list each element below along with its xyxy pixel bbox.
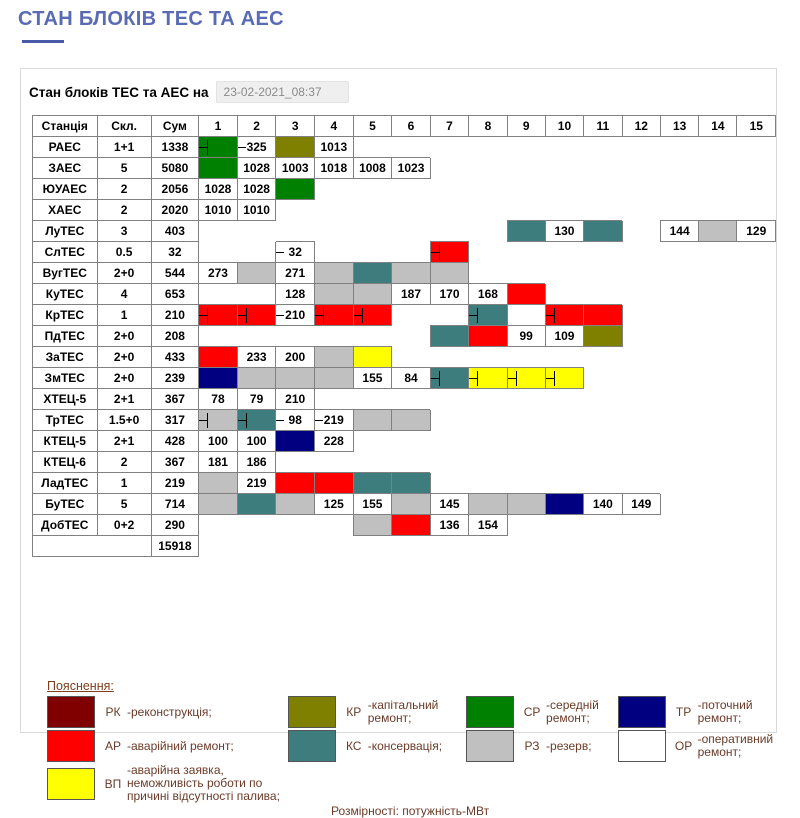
station-composition: 2+1 [97, 431, 151, 452]
unit-cell-empty [392, 179, 431, 200]
unit-cell-empty [545, 158, 583, 179]
unit-cell[interactable]: 84 [392, 368, 431, 389]
station-name: БуТЕС [33, 494, 98, 515]
column-header-unit-5: 5 [353, 116, 392, 137]
unit-cell-empty [469, 221, 507, 242]
unit-cell[interactable]: 125 [315, 494, 354, 515]
unit-cell-empty [660, 494, 698, 515]
unit-cell[interactable]: 1018 [315, 158, 354, 179]
unit-cell-empty [699, 284, 737, 305]
unit-cell[interactable]: 1010 [199, 200, 238, 221]
table-row: ДобТЕС0+2290136154 [33, 515, 776, 536]
unit-cell-empty [699, 536, 737, 557]
unit-cell-empty [699, 137, 737, 158]
unit-cell-empty [315, 242, 354, 263]
unit-cell-empty [737, 368, 776, 389]
legend-description: -реконструкція; [127, 706, 212, 719]
unit-cell[interactable] [545, 494, 583, 515]
unit-cell-empty [545, 410, 583, 431]
table-row: ЛадТЕС1219219 [33, 473, 776, 494]
unit-cell[interactable] [353, 284, 392, 305]
station-name: ЮУАЕС [33, 179, 98, 200]
unit-cell[interactable] [199, 368, 238, 389]
unit-cell-empty [699, 158, 737, 179]
unit-cell[interactable]: 32 [276, 242, 315, 263]
unit-cell-empty [469, 158, 507, 179]
legend-title: Пояснення: [47, 679, 787, 693]
table-row: ТрТЕС1.5+031798219 [33, 410, 776, 431]
unit-cell-empty [622, 347, 660, 368]
unit-cell-empty [469, 452, 507, 473]
unit-cell-empty [545, 179, 583, 200]
unit-cell[interactable]: 219 [237, 473, 276, 494]
unit-cell[interactable] [315, 347, 354, 368]
unit-cell-empty [430, 347, 468, 368]
unit-cell[interactable] [276, 179, 315, 200]
legend-description: -консервація; [368, 740, 442, 753]
unit-cell[interactable]: 187 [392, 284, 431, 305]
unit-cell-empty [469, 389, 507, 410]
unit-cell[interactable]: 1028 [199, 179, 238, 200]
unit-cell[interactable] [315, 305, 354, 326]
unit-cell-empty [584, 431, 622, 452]
column-header-unit-8: 8 [469, 116, 507, 137]
station-composition: 2+0 [97, 347, 151, 368]
unit-cell-empty [660, 305, 698, 326]
unit-cell-empty [660, 263, 698, 284]
legend-item: ВП-аварійна заявка, неможливість роботи … [47, 764, 288, 803]
unit-cell[interactable]: 78 [199, 389, 238, 410]
unit-cell-empty [699, 515, 737, 536]
table-row: ЗмТЕС2+023915584 [33, 368, 776, 389]
unit-cell-empty [660, 431, 698, 452]
station-sum: 367 [151, 452, 199, 473]
unit-cell[interactable] [199, 137, 238, 158]
legend-item: ОР-оперативний ремонт; [618, 730, 787, 762]
unit-cell-empty [430, 452, 468, 473]
legend-item: РК-реконструкція; [47, 696, 288, 728]
unit-cell[interactable]: 1028 [237, 179, 276, 200]
panel-title: Стан блоків ТЕС та АЕС на [29, 85, 209, 100]
unit-cell-empty [469, 347, 507, 368]
column-header-unit-1: 1 [199, 116, 238, 137]
unit-cell-empty [584, 389, 622, 410]
unit-cell[interactable]: 325 [237, 137, 276, 158]
unit-cell[interactable] [353, 263, 392, 284]
station-sum: 317 [151, 410, 199, 431]
legend-description: -резерв; [546, 740, 592, 753]
status-panel: Стан блоків ТЕС та АЕС на 23-02-2021_08:… [20, 68, 777, 733]
unit-cell-empty [353, 137, 392, 158]
legend-swatch-ks [288, 730, 336, 762]
legend-swatch-rk [47, 696, 95, 728]
unit-cell[interactable] [507, 221, 545, 242]
unit-cell-empty [430, 221, 468, 242]
unit-cell-empty [584, 410, 622, 431]
unit-cell-empty [737, 410, 776, 431]
station-composition: 2 [97, 452, 151, 473]
unit-cell[interactable]: 144 [660, 221, 698, 242]
unit-cell-empty [660, 158, 698, 179]
unit-cell-empty [660, 179, 698, 200]
station-name: РАЕС [33, 137, 98, 158]
legend-abbr: ВП [99, 777, 127, 791]
unit-cell-empty [276, 200, 315, 221]
table-row: БуТЕС5714125155145140149 [33, 494, 776, 515]
unit-cell-empty [622, 368, 660, 389]
unit-cell[interactable] [276, 368, 315, 389]
unit-cell-empty [699, 410, 737, 431]
unit-cell[interactable]: 1013 [315, 137, 354, 158]
unit-cell[interactable] [545, 305, 583, 326]
unit-cell-empty [315, 326, 354, 347]
unit-cell-empty [392, 452, 431, 473]
unit-cell[interactable]: 130 [545, 221, 583, 242]
unit-cell[interactable] [507, 494, 545, 515]
unit-cell-empty [622, 200, 660, 221]
unit-cell[interactable] [237, 494, 276, 515]
station-name: КТЕЦ-5 [33, 431, 98, 452]
station-sum: 219 [151, 473, 199, 494]
unit-cell[interactable] [353, 473, 392, 494]
unit-cell-empty [699, 389, 737, 410]
unit-cell-empty [430, 389, 468, 410]
unit-cell[interactable] [276, 494, 315, 515]
unit-cell-empty [660, 347, 698, 368]
unit-cell-empty [392, 431, 431, 452]
unit-cell-empty [315, 515, 354, 536]
unit-cell-empty [430, 200, 468, 221]
unit-cell[interactable] [199, 158, 238, 179]
unit-cell-empty [353, 389, 392, 410]
unit-cell[interactable] [276, 473, 315, 494]
legend-swatch-kr [288, 696, 336, 728]
legend-abbr: ОР [670, 739, 698, 753]
unit-cell[interactable] [392, 410, 431, 431]
unit-cell-empty [392, 242, 431, 263]
unit-cell[interactable]: 155 [353, 368, 392, 389]
date-field[interactable]: 23-02-2021_08:37 [216, 81, 349, 103]
unit-cell-empty [737, 326, 776, 347]
legend-item: АР-аварійний ремонт; [47, 730, 288, 762]
unit-cell[interactable] [584, 221, 622, 242]
unit-cell[interactable] [392, 515, 431, 536]
unit-cell[interactable] [199, 473, 238, 494]
unit-cell-empty [353, 221, 392, 242]
unit-cell[interactable] [584, 326, 622, 347]
unit-cell-empty [276, 515, 315, 536]
station-name: СлТЕС [33, 242, 98, 263]
unit-cell[interactable]: 168 [469, 284, 507, 305]
unit-cell[interactable] [430, 242, 468, 263]
unit-cell[interactable] [237, 368, 276, 389]
unit-cell[interactable]: 140 [584, 494, 622, 515]
unit-cell[interactable]: 1023 [392, 158, 431, 179]
station-sum: 367 [151, 389, 199, 410]
legend-description: -оперативний ремонт; [698, 733, 787, 759]
unit-cell-empty [584, 200, 622, 221]
unit-cell-empty [699, 263, 737, 284]
column-header-unit-2: 2 [237, 116, 276, 137]
unit-cell-empty [199, 326, 238, 347]
unit-cell[interactable] [353, 305, 392, 326]
unit-cell-empty [392, 536, 431, 557]
unit-cell-empty [545, 515, 583, 536]
unit-cell[interactable] [430, 263, 468, 284]
unit-cell-empty [430, 410, 468, 431]
unit-cell-empty [237, 284, 276, 305]
column-header-unit-14: 14 [699, 116, 737, 137]
station-name: ЗаТЕС [33, 347, 98, 368]
unit-cell[interactable]: 186 [237, 452, 276, 473]
unit-cell-empty [545, 452, 583, 473]
unit-cell-empty [469, 431, 507, 452]
unit-cell-empty [660, 389, 698, 410]
unit-cell[interactable]: 79 [237, 389, 276, 410]
unit-cell[interactable] [353, 410, 392, 431]
unit-cell[interactable] [199, 347, 238, 368]
unit-cell-empty [737, 515, 776, 536]
unit-cell[interactable]: 210 [276, 389, 315, 410]
unit-cell-empty [622, 263, 660, 284]
unit-cell-empty [584, 263, 622, 284]
unit-cell[interactable]: 200 [276, 347, 315, 368]
unit-cell-empty [507, 200, 545, 221]
unit-cell[interactable]: 99 [507, 326, 545, 347]
unit-cell-empty [469, 137, 507, 158]
legend: Пояснення: РК-реконструкція;АР-аварійний… [47, 679, 787, 805]
table-body: РАЕС1+113383251013ЗАЕС550801028100310181… [33, 137, 776, 557]
unit-cell[interactable] [353, 515, 392, 536]
grand-total: 15918 [151, 536, 199, 557]
unit-cell-empty [507, 431, 545, 452]
unit-cell[interactable] [315, 473, 354, 494]
unit-cell-empty [584, 347, 622, 368]
unit-cell[interactable] [545, 368, 583, 389]
unit-cell[interactable]: 1010 [237, 200, 276, 221]
unit-cell[interactable]: 100 [237, 431, 276, 452]
unit-cell-empty [469, 242, 507, 263]
table-row: ЮУАЕС2205610281028 [33, 179, 776, 200]
legend-swatch-or [618, 730, 666, 762]
unit-cell[interactable]: 170 [430, 284, 468, 305]
unit-cell[interactable]: 210 [276, 305, 315, 326]
unit-cell-empty [584, 536, 622, 557]
unit-cell[interactable] [507, 284, 545, 305]
column-header-unit-15: 15 [737, 116, 776, 137]
unit-cell-empty [199, 536, 238, 557]
unit-cell-empty [392, 137, 431, 158]
station-composition: 1+1 [97, 137, 151, 158]
column-header-unit-3: 3 [276, 116, 315, 137]
unit-cell[interactable] [507, 368, 545, 389]
unit-cell-empty [469, 473, 507, 494]
unit-cell-empty [660, 200, 698, 221]
unit-cell[interactable]: 155 [353, 494, 392, 515]
table-row: КТЕЦ-52+1428100100228 [33, 431, 776, 452]
unit-cell-empty [507, 179, 545, 200]
unit-cell-empty [469, 536, 507, 557]
legend-swatch-ar [47, 730, 95, 762]
unit-cell[interactable]: 129 [737, 221, 776, 242]
unit-cell-empty [660, 326, 698, 347]
unit-cell[interactable]: 145 [430, 494, 468, 515]
unit-cell-empty [315, 452, 354, 473]
unit-cell-empty [622, 305, 660, 326]
unit-cell-empty [622, 137, 660, 158]
unit-cell-empty [430, 158, 468, 179]
table-row: КрТЕС1210210 [33, 305, 776, 326]
station-composition: 2+0 [97, 263, 151, 284]
unit-cell[interactable] [276, 431, 315, 452]
unit-cell-empty [392, 389, 431, 410]
unit-cell[interactable]: 219 [315, 410, 354, 431]
column-header-unit-10: 10 [545, 116, 583, 137]
unit-cell[interactable]: 136 [430, 515, 468, 536]
unit-cell-empty [660, 473, 698, 494]
unit-cell-empty [469, 410, 507, 431]
unit-cell-empty [584, 452, 622, 473]
unit-cell-empty [699, 494, 737, 515]
column-header-unit-13: 13 [660, 116, 698, 137]
unit-cell[interactable]: 273 [199, 263, 238, 284]
unit-cell-empty [584, 158, 622, 179]
unit-cell-empty [660, 137, 698, 158]
unit-cell[interactable] [392, 473, 431, 494]
unit-cell[interactable]: 228 [315, 431, 354, 452]
unit-cell-empty [622, 473, 660, 494]
unit-cell[interactable] [392, 263, 431, 284]
station-sum: 290 [151, 515, 199, 536]
station-composition: 4 [97, 284, 151, 305]
unit-cell[interactable] [237, 263, 276, 284]
unit-cell[interactable]: 181 [199, 452, 238, 473]
unit-cell[interactable]: 1008 [353, 158, 392, 179]
unit-cell-empty [392, 326, 431, 347]
station-composition: 2+1 [97, 389, 151, 410]
legend-columns: РК-реконструкція;АР-аварійний ремонт;ВП-… [47, 696, 787, 805]
unit-cell[interactable] [699, 221, 737, 242]
station-name: ЗмТЕС [33, 368, 98, 389]
table-row: ХТЕЦ-52+13677879210 [33, 389, 776, 410]
unit-cell-empty [430, 473, 468, 494]
unit-cell-empty [507, 473, 545, 494]
legend-abbr: ТР [670, 705, 698, 719]
unit-cell[interactable] [469, 326, 507, 347]
unit-cell[interactable] [315, 368, 354, 389]
legend-swatch-vp [47, 768, 95, 800]
unit-cell-empty [584, 137, 622, 158]
unit-cell-empty [584, 242, 622, 263]
column-header-unit-4: 4 [315, 116, 354, 137]
legend-description: -аварійна заявка, неможливість роботи по… [127, 764, 288, 803]
unit-cell[interactable] [315, 284, 354, 305]
unit-cell[interactable] [469, 368, 507, 389]
unit-cell[interactable] [430, 326, 468, 347]
unit-cell[interactable]: 154 [469, 515, 507, 536]
unit-cell-empty [737, 473, 776, 494]
station-composition: 0.5 [97, 242, 151, 263]
unit-cell[interactable] [469, 305, 507, 326]
legend-item: РЗ-резерв; [466, 730, 618, 762]
station-sum: 32 [151, 242, 199, 263]
unit-cell[interactable]: 149 [622, 494, 660, 515]
unit-cell-empty [199, 515, 238, 536]
station-composition: 5 [97, 158, 151, 179]
unit-cell[interactable] [199, 410, 238, 431]
legend-abbr: АР [99, 739, 127, 753]
unit-cell[interactable]: 233 [237, 347, 276, 368]
unit-cell[interactable] [430, 368, 468, 389]
unit-cell[interactable] [199, 305, 238, 326]
unit-cell[interactable] [315, 263, 354, 284]
unit-cell[interactable]: 1028 [237, 158, 276, 179]
unit-cell-empty [737, 137, 776, 158]
table-row: ПдТЕС2+020899109 [33, 326, 776, 347]
unit-cell[interactable] [276, 137, 315, 158]
unit-cell-empty [699, 473, 737, 494]
unit-cell-empty [660, 368, 698, 389]
station-sum: 403 [151, 221, 199, 242]
station-sum: 653 [151, 284, 199, 305]
unit-cell[interactable] [469, 494, 507, 515]
unit-cell-empty [622, 179, 660, 200]
station-name: ВугТЕС [33, 263, 98, 284]
panel-header: Стан блоків ТЕС та АЕС на 23-02-2021_08:… [21, 69, 776, 110]
unit-cell[interactable]: 98 [276, 410, 315, 431]
title-underline [22, 40, 64, 43]
unit-cell-empty [699, 452, 737, 473]
unit-cell-empty [276, 536, 315, 557]
station-sum: 2020 [151, 200, 199, 221]
unit-cell-empty [622, 410, 660, 431]
unit-cell-empty [622, 515, 660, 536]
unit-cell-empty [622, 389, 660, 410]
station-sum: 1338 [151, 137, 199, 158]
unit-cell[interactable] [353, 347, 392, 368]
legend-abbr: КР [340, 705, 368, 719]
table-total-row: 15918 [33, 536, 776, 557]
unit-cell-empty [430, 179, 468, 200]
unit-cell[interactable]: 271 [276, 263, 315, 284]
unit-cell-empty [699, 179, 737, 200]
unit-cell-empty [545, 242, 583, 263]
legend-item: КС-консервація; [288, 730, 466, 762]
unit-cell[interactable] [584, 305, 622, 326]
unit-cell[interactable]: 128 [276, 284, 315, 305]
station-composition: 2 [97, 200, 151, 221]
unit-cell[interactable] [199, 494, 238, 515]
unit-cell-empty [353, 242, 392, 263]
legend-description: -поточний ремонт; [698, 699, 787, 725]
legend-abbr: КС [340, 739, 368, 753]
unit-cell[interactable]: 100 [199, 431, 238, 452]
column-header-station: Станція [33, 116, 98, 137]
unit-cell[interactable]: 1003 [276, 158, 315, 179]
station-composition: 1 [97, 473, 151, 494]
unit-cell-empty [237, 326, 276, 347]
unit-cell-empty [199, 221, 238, 242]
station-name: КуТЕС [33, 284, 98, 305]
unit-cell-empty [737, 305, 776, 326]
unit-cell[interactable] [237, 305, 276, 326]
unit-cell[interactable] [237, 410, 276, 431]
unit-cell-empty [507, 263, 545, 284]
unit-cell[interactable] [392, 494, 431, 515]
unit-cell[interactable]: 109 [545, 326, 583, 347]
table-row: ХАЕС2202010101010 [33, 200, 776, 221]
unit-cell-empty [699, 305, 737, 326]
